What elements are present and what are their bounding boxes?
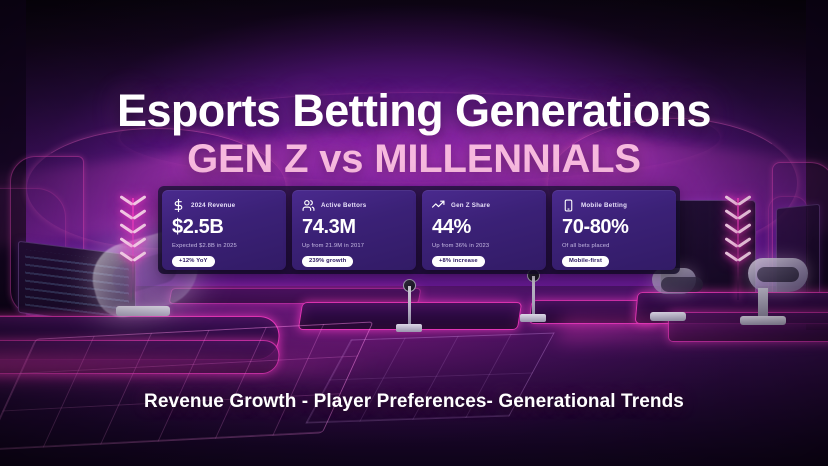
microphone-pole (532, 276, 535, 316)
stat-card-badge: +12% YoY (172, 256, 215, 267)
microphone-base (520, 314, 546, 322)
vr-headset-base-center (650, 312, 686, 321)
floor-neon-glow-left (0, 352, 385, 378)
vr-headset-right (748, 258, 808, 292)
stat-card-subtext: Up from 36% in 2023 (432, 243, 536, 249)
trending-up-icon (432, 199, 445, 212)
stat-card-value: 44% (432, 217, 536, 237)
chevron-down-icon (725, 240, 751, 252)
chevron-down-icon (725, 212, 751, 224)
stat-card-active-bettors[interactable]: Active Bettors 74.3M Up from 21.9M in 20… (292, 190, 416, 270)
stat-card-revenue[interactable]: 2024 Revenue $2.5B Expected $2.8B in 202… (162, 190, 286, 270)
stat-card-header: 2024 Revenue (172, 199, 276, 212)
chevron-down-icon (120, 240, 146, 252)
users-icon (302, 199, 315, 212)
stat-card-badge: 239% growth (302, 256, 353, 267)
stat-card-value: 74.3M (302, 217, 406, 237)
chevron-down-icon (725, 198, 751, 210)
chevron-down-icon (725, 254, 751, 266)
chevron-arrow-group-left (120, 198, 146, 266)
stat-card-header: Mobile Betting (562, 199, 666, 212)
microphone-base (396, 324, 422, 332)
microphone-stand-right (520, 276, 546, 324)
stat-card-badge: +8% increase (432, 256, 485, 267)
page-title: Esports Betting Generations (0, 88, 828, 135)
chevron-arrow-group-right (725, 198, 751, 266)
stat-card-label: Gen Z Share (451, 202, 490, 209)
stat-card-header: Gen Z Share (432, 199, 536, 212)
stat-card-label: Active Bettors (321, 202, 366, 209)
chevron-down-icon (120, 254, 146, 266)
stat-card-gen-z-share[interactable]: Gen Z Share 44% Up from 36% in 2023 +8% … (422, 190, 546, 270)
holographic-floor-grid (0, 321, 374, 450)
dollar-sign-icon (172, 199, 185, 212)
desk-riser-left (116, 306, 170, 316)
title-block: Esports Betting Generations GEN Z vs MIL… (0, 88, 828, 180)
vr-headset-base-right (740, 316, 786, 325)
stat-card-mobile-betting[interactable]: Mobile Betting 70-80% Of all bets placed… (552, 190, 676, 270)
microphone-pole (408, 286, 411, 326)
stat-card-badge: Mobile-first (562, 256, 609, 267)
floor-neon-glow-right (558, 316, 828, 342)
stats-panel: 2024 Revenue $2.5B Expected $2.8B in 202… (158, 186, 680, 274)
chevron-down-icon (120, 198, 146, 210)
infographic-canvas: Esports Betting Generations GEN Z vs MIL… (0, 0, 828, 466)
stat-card-value: 70-80% (562, 217, 666, 237)
vr-headset-stand-right (758, 288, 768, 318)
stat-card-value: $2.5B (172, 217, 276, 237)
chevron-down-icon (725, 226, 751, 238)
mobile-phone-icon (562, 199, 575, 212)
chevron-down-icon (120, 212, 146, 224)
footer-tagline: Revenue Growth - Player Preferences- Gen… (0, 391, 828, 413)
stat-card-subtext: Expected $2.8B in 2025 (172, 243, 276, 249)
stat-card-subtext: Up from 21.9M in 2017 (302, 243, 406, 249)
stat-card-header: Active Bettors (302, 199, 406, 212)
chevron-down-icon (120, 226, 146, 238)
stat-card-subtext: Of all bets placed (562, 243, 666, 249)
stat-card-label: Mobile Betting (581, 202, 627, 209)
microphone-stand-center (396, 286, 422, 334)
stat-card-label: 2024 Revenue (191, 202, 235, 209)
page-subtitle: GEN Z vs MILLENNIALS (0, 139, 828, 181)
